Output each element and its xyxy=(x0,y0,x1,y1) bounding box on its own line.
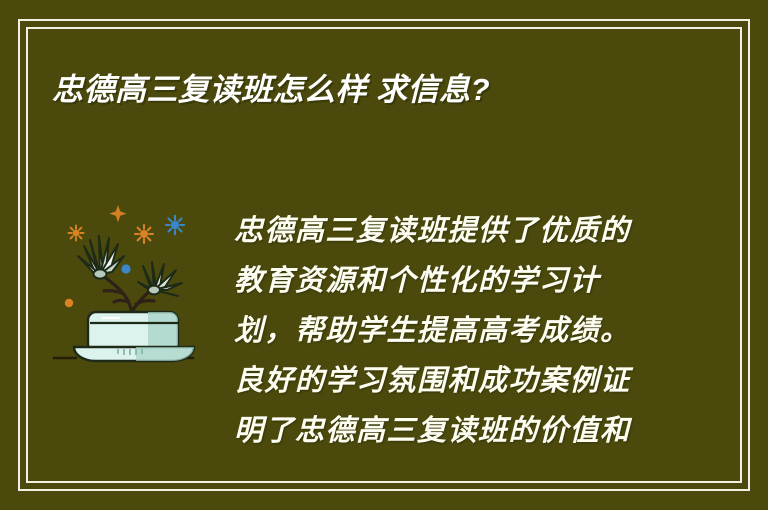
pot-saucer xyxy=(74,347,194,361)
flower-right xyxy=(138,262,182,296)
potted-plant-illustration xyxy=(44,190,224,375)
sparkle-blue-dot-icon xyxy=(121,264,130,273)
sparkle-orange-star-icon xyxy=(109,205,126,222)
sparkle-blue-burst-icon xyxy=(166,216,184,234)
flower-left xyxy=(78,236,124,279)
sparkle-orange-burst-icon xyxy=(69,226,84,241)
sparkle-orange-burst-icon-2 xyxy=(135,225,153,243)
sparkle-orange-dot-icon xyxy=(65,299,73,307)
poster-canvas: 忠德高三复读班怎么样 求信息? xyxy=(0,0,768,510)
page-title: 忠德高三复读班怎么样 求信息? xyxy=(52,68,712,112)
body-paragraph: 忠德高三复读班提供了优质的教育资源和个性化的学习计划，帮助学生提高高考成绩。良好… xyxy=(234,206,648,456)
